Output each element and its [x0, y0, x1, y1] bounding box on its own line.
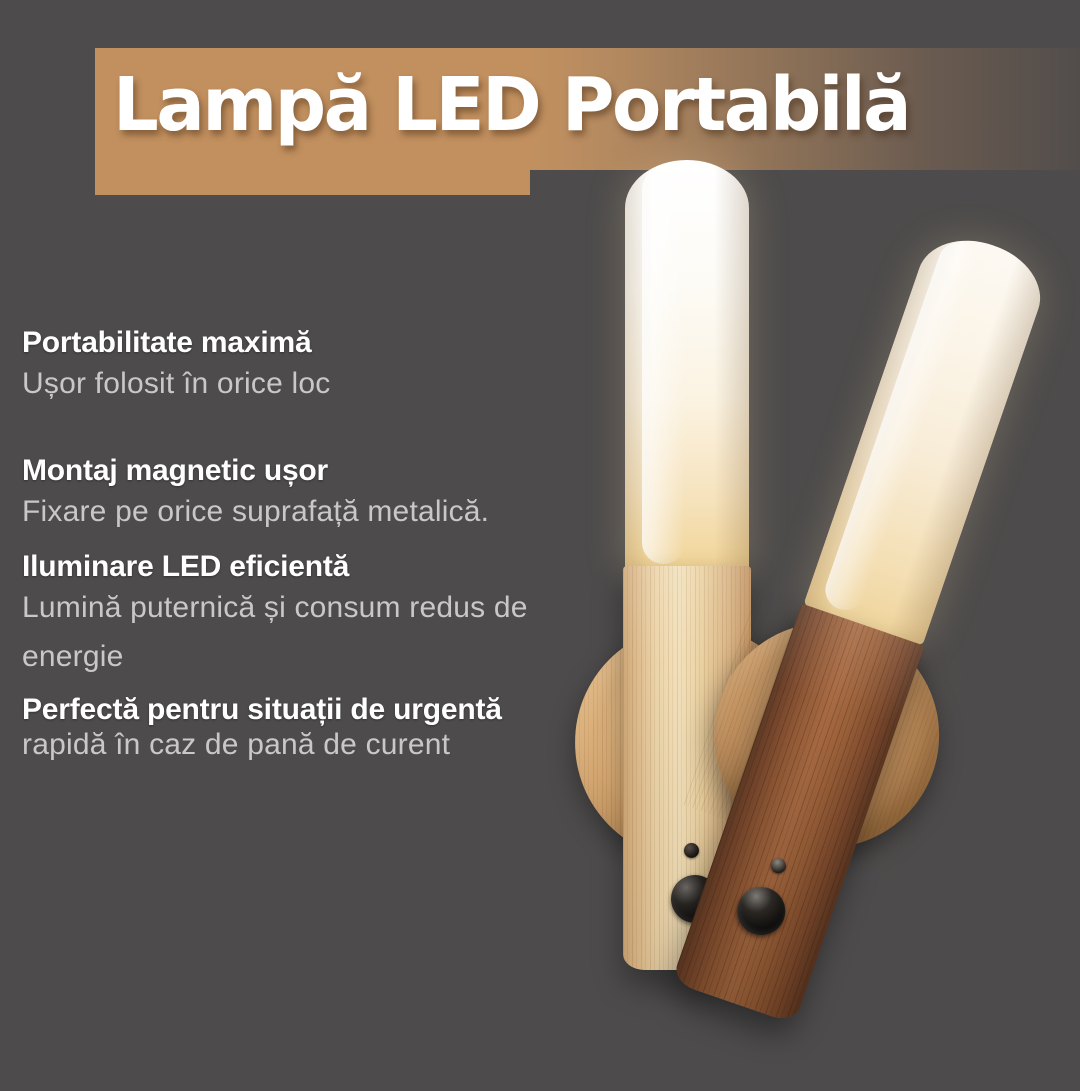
right-lamp: [730, 235, 1060, 1065]
diffuser-highlight: [820, 238, 984, 616]
feature-item-led-efficiency: Iluminare LED eficientă Lumină puternică…: [22, 549, 542, 682]
feature-list: Portabilitate maximă Ușor folosit în ori…: [22, 325, 542, 784]
right-lamp-diffuser-tube: [803, 225, 1053, 646]
feature-description: Fixare pe orice suprafață metalică.: [22, 488, 542, 537]
feature-description: rapidă în caz de pană de curent: [22, 721, 542, 770]
feature-title: Iluminare LED eficientă: [22, 549, 542, 584]
page-title: Lampă LED Portabilă: [113, 68, 909, 142]
feature-description: Lumină puternică și consum redus de ener…: [22, 584, 542, 681]
feature-title: Portabilitate maximă: [22, 325, 542, 360]
feature-item-emergency: Perfectă pentru situații de urgentă rapi…: [22, 692, 542, 770]
feature-item-portability: Portabilitate maximă Ușor folosit în ori…: [22, 325, 542, 409]
feature-title: Montaj magnetic ușor: [22, 453, 542, 488]
feature-description: Ușor folosit în orice loc: [22, 360, 542, 409]
feature-item-magnetic-mount: Montaj magnetic ușor Fixare pe orice sup…: [22, 453, 542, 537]
diffuser-highlight: [642, 168, 684, 564]
